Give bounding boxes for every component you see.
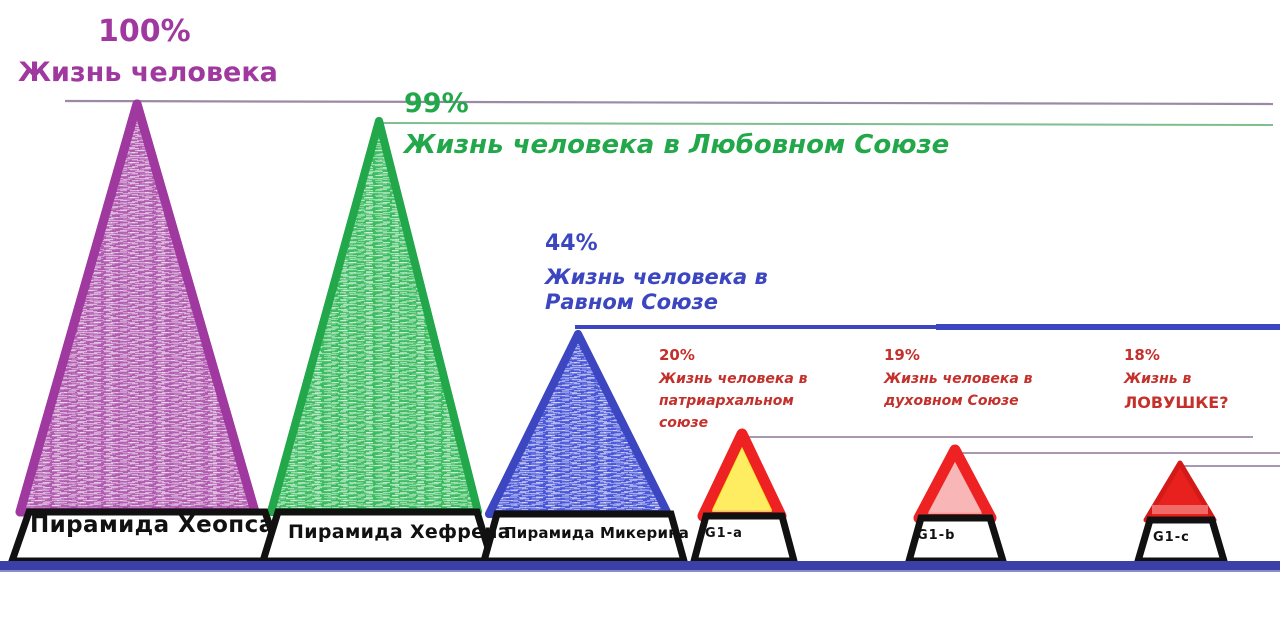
description-g1-a-line3: союзе: [659, 412, 808, 434]
percent-label-chephren: 99%: [404, 88, 469, 120]
percent-label-cheops: 100%: [98, 14, 191, 49]
pyramid-g1-a[interactable]: [703, 434, 781, 516]
percent-label-g1-b: 19%: [884, 344, 1033, 368]
plinth-label-g1-a: G1-a: [705, 526, 743, 541]
description-g1-b: 19% Жизнь человека в духовном Союзе: [884, 344, 1033, 412]
percent-label-g1-a: 20%: [659, 344, 808, 368]
percent-label-g1-c: 18%: [1124, 344, 1228, 368]
description-mykerinos-line2: Равном Союзе: [545, 290, 768, 315]
plinth-label-chephren: Пирамида Хефрена: [288, 521, 511, 543]
description-g1-b-line2: духовном Союзе: [884, 390, 1033, 412]
description-g1-b-line1: Жизнь человека в: [884, 368, 1033, 390]
leader-line-cheops: [65, 101, 1273, 104]
description-mykerinos-line1: Жизнь человека в: [545, 265, 768, 290]
description-g1-c-line2: ЛОВУШКЕ?: [1124, 390, 1228, 415]
ground-baseline-shadow: [0, 570, 1280, 572]
plinth-label-cheops: Пирамида Хеопса: [30, 512, 275, 538]
description-cheops: Жизнь человека: [18, 57, 278, 89]
description-g1-a-line2: патриархальном: [659, 390, 808, 412]
ground-baseline: [0, 561, 1280, 570]
pyramid-chephren[interactable]: [271, 121, 478, 512]
pyramid-g1-c[interactable]: [1146, 463, 1214, 520]
plinth-label-g1-c: G1-c: [1153, 530, 1190, 545]
percent-label-mykerinos: 44%: [545, 231, 598, 257]
description-g1-a: 20% Жизнь человека в патриархальном союз…: [659, 344, 808, 434]
infographic-canvas: 100% Жизнь человека 99% Жизнь человека в…: [0, 0, 1280, 628]
description-chephren: Жизнь человека в Любовном Союзе: [404, 130, 949, 161]
leader-line-chephren: [380, 123, 1273, 125]
pyramid-g1-b[interactable]: [919, 450, 991, 518]
description-g1-c: 18% Жизнь в ЛОВУШКЕ?: [1124, 344, 1228, 415]
pyramid-mykerinos[interactable]: [489, 334, 668, 514]
description-g1-a-line1: Жизнь человека в: [659, 368, 808, 390]
pyramid-cheops[interactable]: [20, 104, 255, 512]
plinth-label-mykerinos: Пирамида Микерина: [504, 524, 689, 542]
plinth-label-g1-b: G1-b: [917, 528, 955, 543]
description-mykerinos: Жизнь человека в Равном Союзе: [545, 265, 768, 315]
description-g1-c-line1: Жизнь в: [1124, 368, 1228, 390]
